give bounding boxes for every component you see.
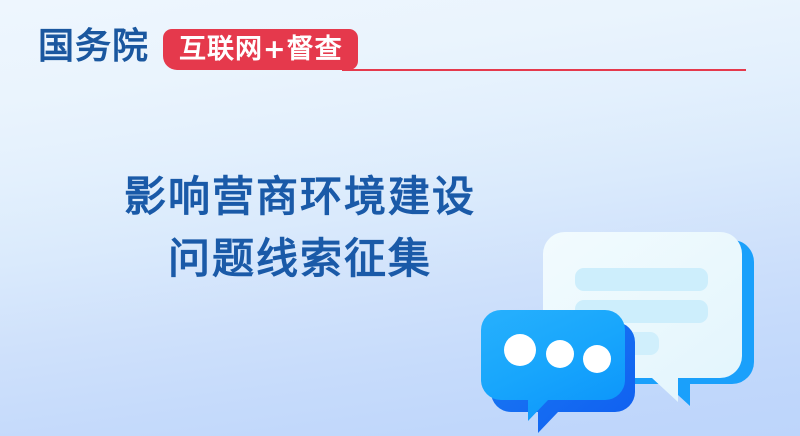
program-badge: 互联网+督查 — [163, 29, 358, 70]
header-divider-rule — [342, 69, 746, 71]
chat-bubbles-illustration — [480, 210, 800, 436]
typing-dot-3 — [583, 345, 611, 373]
chat-bubbles-svg — [480, 210, 800, 436]
typing-dot-1 — [504, 334, 536, 366]
promo-banner: 国务院 互联网+督查 影响营商环境建设 问题线索征集 — [0, 0, 800, 436]
gov-council-logo: 国务院 — [38, 25, 149, 69]
banner-header: 国务院 互联网+督查 — [0, 0, 800, 96]
back-bubble-line-1 — [575, 268, 708, 291]
typing-dot-2 — [546, 340, 574, 368]
